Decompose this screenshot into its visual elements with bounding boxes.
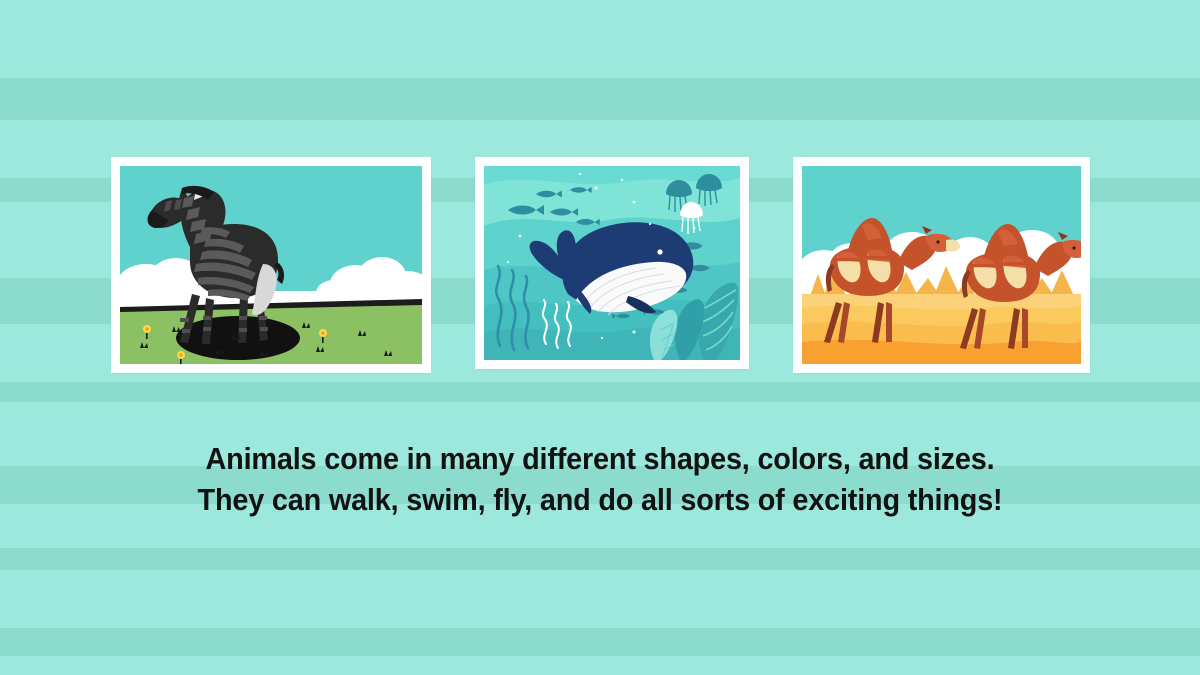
caption-line-1: Animals come in many different shapes, c… (42, 438, 1158, 479)
stripe (0, 548, 1200, 570)
caption-block: Animals come in many different shapes, c… (0, 438, 1200, 520)
photo-gallery (0, 157, 1200, 377)
whale-illustration (484, 166, 740, 360)
whale-photo-frame[interactable] (475, 157, 749, 369)
camel-illustration (802, 166, 1081, 364)
zebra-illustration (120, 166, 422, 364)
slide-root: Animals come in many different shapes, c… (0, 0, 1200, 675)
caption-line-2: They can walk, swim, fly, and do all sor… (42, 479, 1158, 520)
stripe (0, 78, 1200, 120)
stripe (0, 628, 1200, 656)
stripe (0, 382, 1200, 402)
camel-scene-svg (802, 166, 1081, 364)
whale-scene-svg (484, 166, 740, 360)
zebra-scene-svg (120, 166, 422, 364)
camel-photo-frame[interactable] (793, 157, 1090, 373)
zebra-photo-frame[interactable] (111, 157, 431, 373)
